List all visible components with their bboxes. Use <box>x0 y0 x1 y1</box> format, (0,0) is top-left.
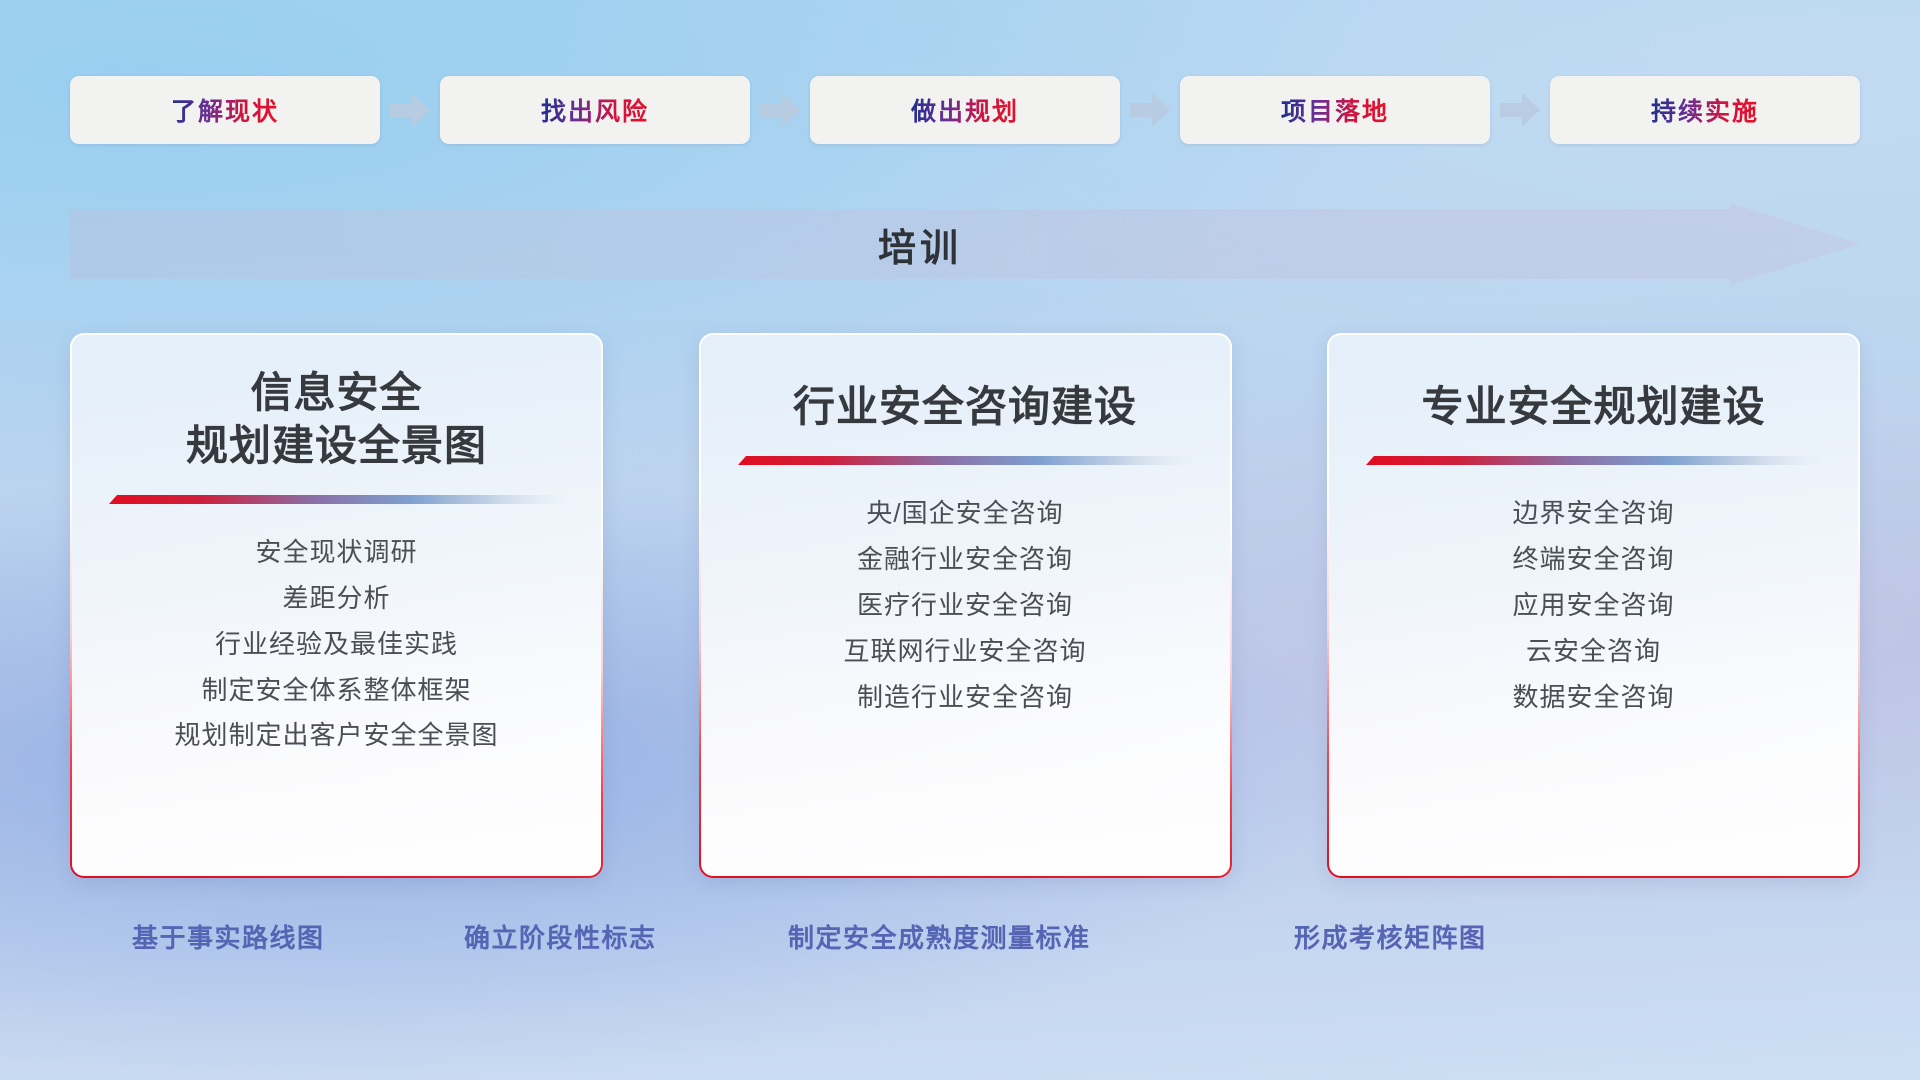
list-item[interactable]: 终端安全咨询 <box>1512 541 1674 578</box>
caption-3: 制定安全成熟度测量标准 <box>788 918 1091 955</box>
list-item[interactable]: 安全现状调研 <box>255 534 417 571</box>
card-divider <box>738 456 1193 469</box>
card-row: 信息安全 规划建设全景图安全现状调研差距分析行业经验及最佳实践制定安全体系整体框… <box>70 333 1860 878</box>
step-label: 做出规划 <box>911 92 1019 128</box>
list-item[interactable]: 医疗行业安全咨询 <box>857 587 1073 624</box>
card-1[interactable]: 信息安全 规划建设全景图安全现状调研差距分析行业经验及最佳实践制定安全体系整体框… <box>70 333 603 878</box>
list-item[interactable]: 边界安全咨询 <box>1512 495 1674 532</box>
list-item[interactable]: 制定安全体系整体框架 <box>201 672 471 709</box>
step-box-1[interactable]: 了解现状 <box>70 76 380 144</box>
card-body: 信息安全 规划建设全景图安全现状调研差距分析行业经验及最佳实践制定安全体系整体框… <box>72 335 601 876</box>
step-flow: 了解现状找出风险做出规划项目落地持续实施 <box>70 76 1860 144</box>
card-title: 行业安全咨询建设 <box>793 381 1137 434</box>
arrow-right-icon <box>1130 93 1170 127</box>
list-item[interactable]: 央/国企安全咨询 <box>866 495 1063 532</box>
step-arrow-1 <box>380 90 440 130</box>
step-box-2[interactable]: 找出风险 <box>440 76 750 144</box>
step-box-3[interactable]: 做出规划 <box>810 76 1120 144</box>
list-item[interactable]: 互联网行业安全咨询 <box>843 633 1086 670</box>
step-arrow-2 <box>750 90 810 130</box>
caption-2: 确立阶段性标志 <box>464 918 657 955</box>
banner-title: 培训 <box>70 203 1860 285</box>
card-body: 行业安全咨询建设央/国企安全咨询金融行业安全咨询医疗行业安全咨询互联网行业安全咨… <box>701 335 1230 876</box>
arrow-right-icon <box>760 93 800 127</box>
list-item[interactable]: 差距分析 <box>282 580 390 617</box>
list-item[interactable]: 规划制定出客户安全全景图 <box>174 717 498 754</box>
list-item[interactable]: 应用安全咨询 <box>1512 587 1674 624</box>
caption-row: 基于事实路线图确立阶段性标志制定安全成熟度测量标准形成考核矩阵图 <box>0 918 1920 966</box>
arrow-right-icon <box>1500 93 1540 127</box>
step-label: 了解现状 <box>171 92 279 128</box>
list-item[interactable]: 行业经验及最佳实践 <box>215 626 458 663</box>
card-item-list: 边界安全咨询终端安全咨询应用安全咨询云安全咨询数据安全咨询 <box>1329 495 1858 716</box>
list-item[interactable]: 云安全咨询 <box>1526 633 1661 670</box>
caption-4: 形成考核矩阵图 <box>1294 918 1487 955</box>
card-divider <box>1366 456 1821 469</box>
step-box-4[interactable]: 项目落地 <box>1180 76 1490 144</box>
step-label: 持续实施 <box>1651 92 1759 128</box>
list-item[interactable]: 制造行业安全咨询 <box>857 679 1073 716</box>
card-item-list: 央/国企安全咨询金融行业安全咨询医疗行业安全咨询互联网行业安全咨询制造行业安全咨… <box>701 495 1230 716</box>
slide-canvas: 了解现状找出风险做出规划项目落地持续实施 培训 信息安全 规划建设全景图安全现状… <box>0 0 1920 1080</box>
training-banner: 培训 <box>70 203 1860 285</box>
step-arrow-3 <box>1120 90 1180 130</box>
card-title: 专业安全规划建设 <box>1421 381 1765 434</box>
arrow-right-icon <box>390 93 430 127</box>
card-2[interactable]: 行业安全咨询建设央/国企安全咨询金融行业安全咨询医疗行业安全咨询互联网行业安全咨… <box>699 333 1232 878</box>
step-label: 找出风险 <box>541 92 649 128</box>
list-item[interactable]: 数据安全咨询 <box>1512 679 1674 716</box>
card-title: 信息安全 规划建设全景图 <box>186 367 487 473</box>
card-body: 专业安全规划建设边界安全咨询终端安全咨询应用安全咨询云安全咨询数据安全咨询 <box>1329 335 1858 876</box>
step-box-5[interactable]: 持续实施 <box>1550 76 1860 144</box>
list-item[interactable]: 金融行业安全咨询 <box>857 541 1073 578</box>
step-arrow-4 <box>1490 90 1550 130</box>
caption-1: 基于事实路线图 <box>132 918 325 955</box>
card-item-list: 安全现状调研差距分析行业经验及最佳实践制定安全体系整体框架规划制定出客户安全全景… <box>72 534 601 755</box>
step-label: 项目落地 <box>1281 92 1389 128</box>
card-divider <box>109 495 564 508</box>
card-3[interactable]: 专业安全规划建设边界安全咨询终端安全咨询应用安全咨询云安全咨询数据安全咨询 <box>1327 333 1860 878</box>
